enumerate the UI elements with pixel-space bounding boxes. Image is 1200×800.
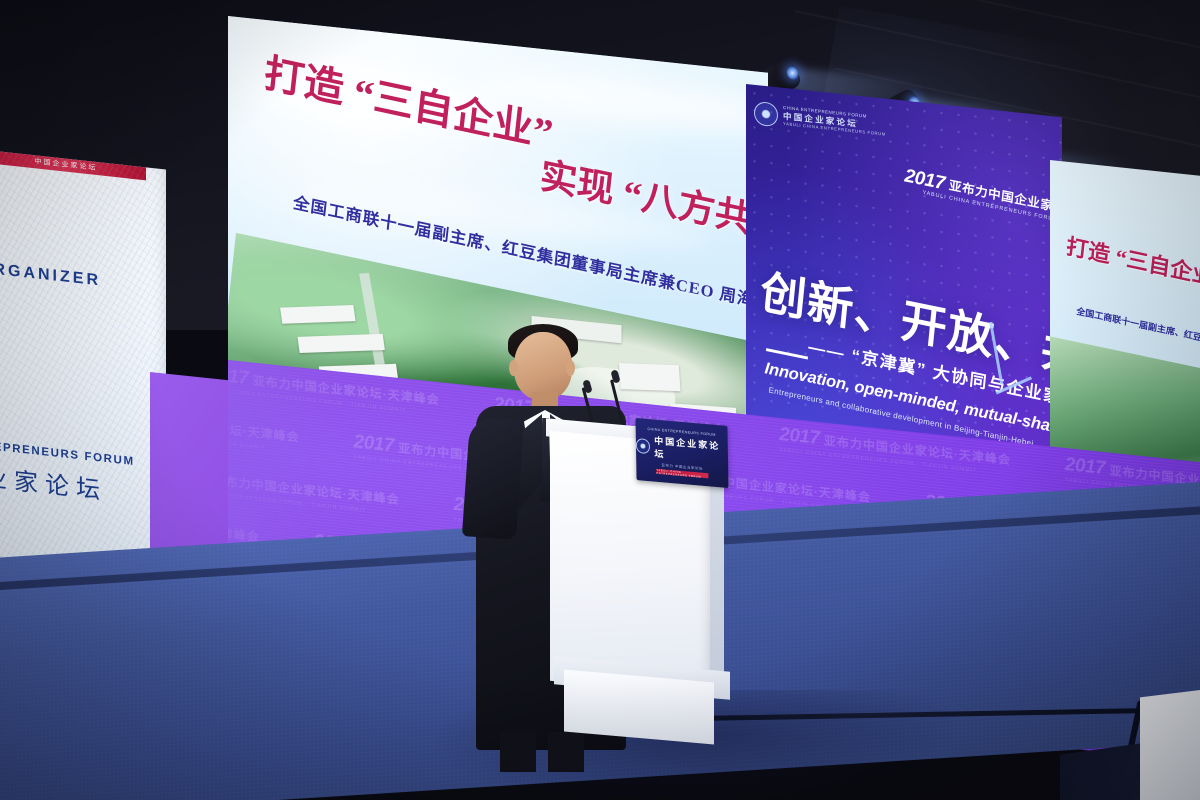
speaker-head: [514, 332, 572, 400]
speaking-podium: CHINA ENTREPRENEURS FORUM 中国企业家论坛 亚布力 中国…: [546, 426, 722, 732]
watermark-year: 2017: [1065, 454, 1105, 479]
stage-photograph: ORGANIZER ENTREPRENEURS FORUM 企业家论坛 亚布力 …: [0, 0, 1200, 800]
podium-seal-icon: [636, 437, 651, 453]
speaker-ear: [509, 360, 518, 376]
watermark-year: 2017: [354, 431, 394, 456]
right-slide-headline: 打造 “三自企业” 实现: [1065, 229, 1200, 305]
watermark-year: 2017: [779, 424, 819, 449]
right-slide-subtitle: 全国工商联十一届副主席、红豆集团董事: [1076, 304, 1200, 351]
white-riser-block: [1140, 683, 1200, 800]
podium-base: [564, 669, 714, 744]
speaker-leg: [548, 732, 584, 772]
speaker-shoulder: [462, 416, 524, 539]
checkmark-icon: [990, 322, 1043, 404]
speaker-ear: [566, 360, 575, 376]
speaker-leg: [500, 732, 536, 772]
aerial-building: [280, 305, 356, 324]
podium-sign-cn: 中国企业家论坛: [654, 434, 728, 466]
aerial-building: [297, 334, 384, 353]
forum-seal-icon: [754, 101, 778, 128]
podium-sign: CHINA ENTREPRENEURS FORUM 中国企业家论坛 亚布力 中国…: [635, 418, 728, 488]
